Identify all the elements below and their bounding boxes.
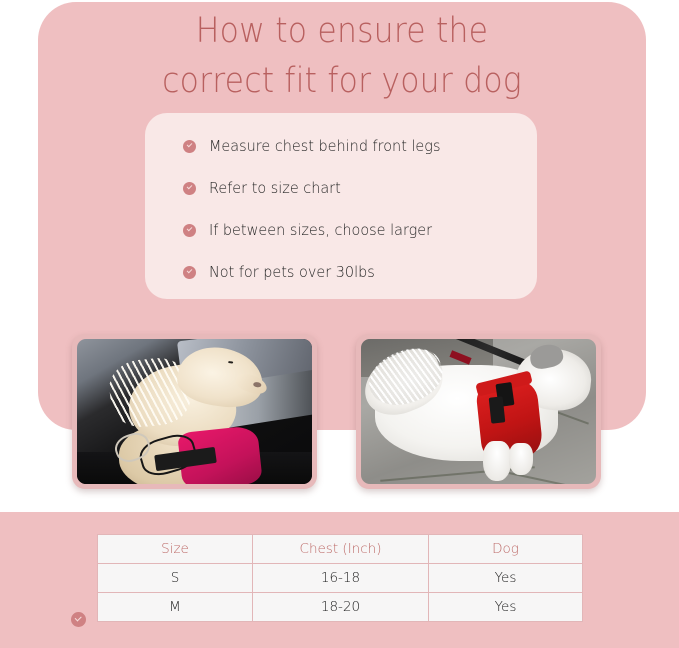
check-circle-icon: [71, 612, 86, 627]
dog-leg: [483, 441, 511, 482]
check-circle-icon: [183, 266, 196, 279]
cell-chest: 16-18: [253, 564, 429, 593]
cell-dog: Yes: [429, 564, 583, 593]
cell-dog: Yes: [429, 593, 583, 622]
dog-leg: [509, 443, 533, 475]
table-row: M 18-20 Yes: [98, 593, 583, 622]
check-circle-icon: [183, 224, 196, 237]
column-header-size: Size: [98, 535, 253, 564]
tip-label: Refer to size chart: [209, 179, 341, 197]
list-item: Not for pets over 30lbs: [183, 251, 537, 293]
size-table-band: Size Chest (Inch) Dog S 16-18 Yes M 18-2…: [0, 512, 679, 648]
list-item: Measure chest behind front legs: [183, 125, 537, 167]
pavement-background: [361, 339, 596, 484]
tips-card: Measure chest behind front legs Refer to…: [145, 113, 537, 299]
car-interior-background: [77, 339, 312, 484]
table-row: S 16-18 Yes: [98, 564, 583, 593]
photo-frame: [361, 339, 596, 484]
tip-label: Not for pets over 30lbs: [209, 263, 375, 281]
column-header-dog: Dog: [429, 535, 583, 564]
table-header-row: Size Chest (Inch) Dog: [98, 535, 583, 564]
cell-size: M: [98, 593, 253, 622]
list-item: Refer to size chart: [183, 167, 537, 209]
tips-list: Measure chest behind front legs Refer to…: [145, 125, 537, 293]
cell-chest: 18-20: [253, 593, 429, 622]
photo-frame: [77, 339, 312, 484]
tip-label: Measure chest behind front legs: [209, 137, 440, 155]
page-title: How to ensure the correct fit for your d…: [68, 6, 615, 106]
tip-label: If between sizes, choose larger: [209, 221, 432, 239]
dog-nose: [253, 381, 261, 387]
size-chart-table: Size Chest (Inch) Dog S 16-18 Yes M 18-2…: [97, 534, 583, 622]
column-header-chest: Chest (Inch): [253, 535, 429, 564]
photo-dog-on-pavement: [356, 334, 601, 489]
list-item: If between sizes, choose larger: [183, 209, 537, 251]
dog-eye: [228, 360, 233, 364]
check-circle-icon: [183, 182, 196, 195]
photo-dog-in-car: [72, 334, 317, 489]
check-circle-icon: [183, 140, 196, 153]
cell-size: S: [98, 564, 253, 593]
